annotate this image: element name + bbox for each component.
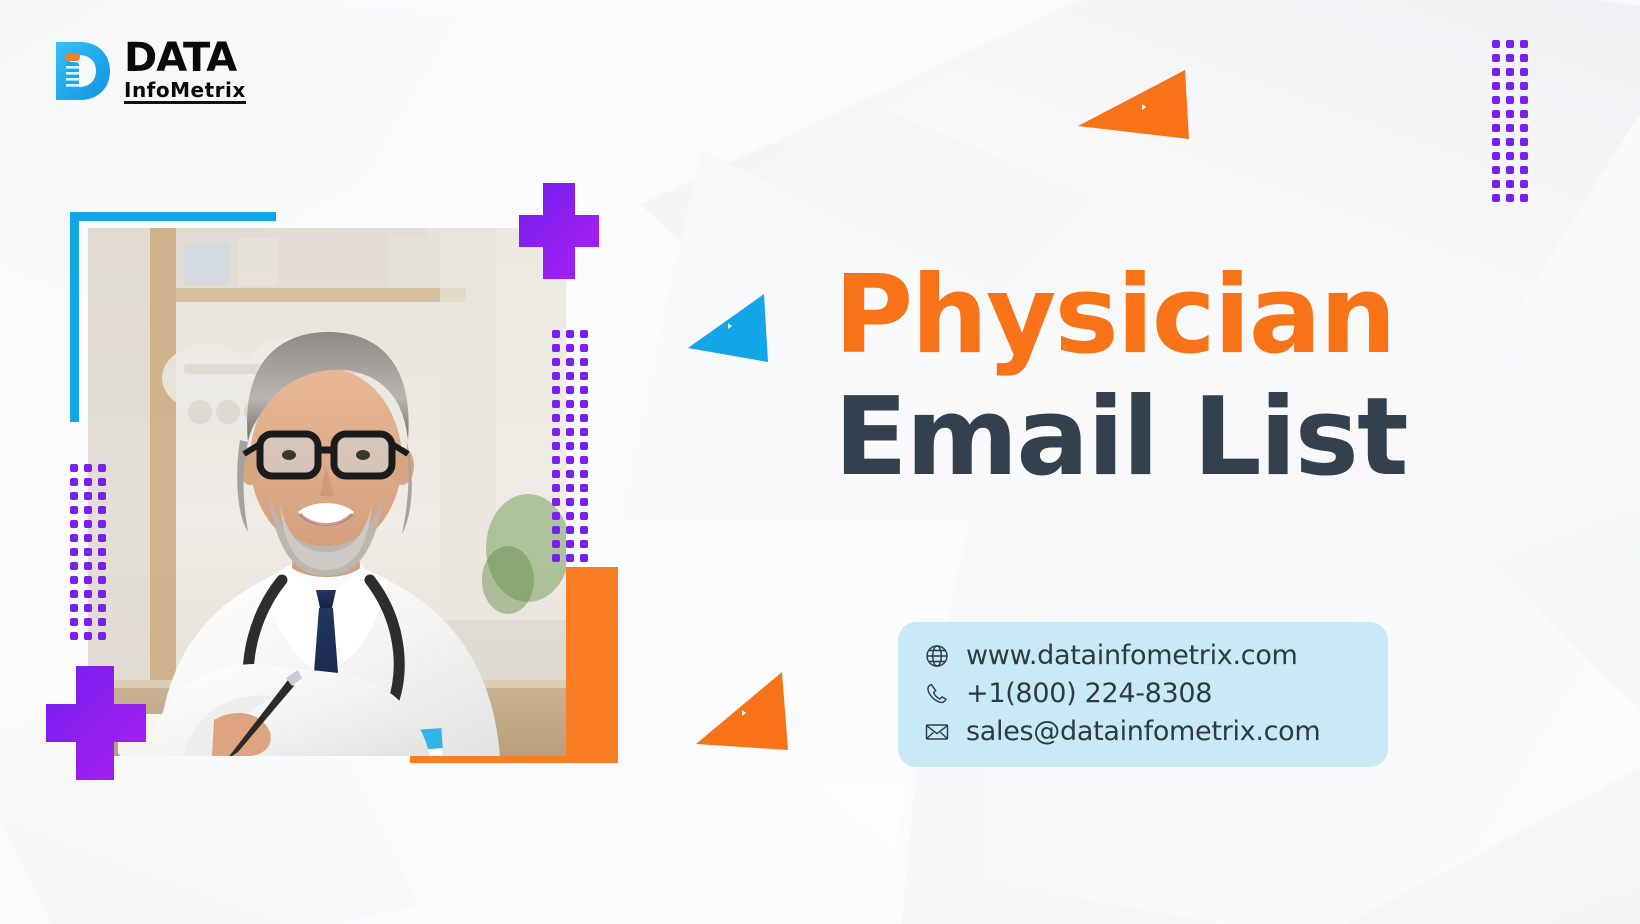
decor-dot xyxy=(552,470,560,478)
decor-dot xyxy=(566,498,574,506)
decor-dot xyxy=(1520,124,1528,132)
decor-dot xyxy=(70,618,78,626)
decor-dot xyxy=(1506,138,1514,146)
decor-dot xyxy=(566,386,574,394)
brand-logo[interactable]: DATA InfoMetrix xyxy=(52,38,246,104)
decor-dot xyxy=(1492,40,1500,48)
decor-dot xyxy=(552,344,560,352)
decor-dot xyxy=(552,386,560,394)
decor-dot xyxy=(1492,194,1500,202)
decor-dot xyxy=(84,506,92,514)
decor-dot xyxy=(580,442,588,450)
decor-dot xyxy=(70,520,78,528)
decor-dot xyxy=(566,540,574,548)
contact-phone-label: +1(800) 224-8308 xyxy=(966,678,1212,709)
decor-dot xyxy=(84,576,92,584)
decor-dot xyxy=(98,506,106,514)
decor-dot xyxy=(580,386,588,394)
decor-dot xyxy=(1520,110,1528,118)
decor-dot xyxy=(1492,138,1500,146)
physician-photo xyxy=(88,228,566,756)
decor-dot xyxy=(552,400,560,408)
decor-dot xyxy=(580,526,588,534)
decor-dot xyxy=(70,562,78,570)
decor-dot xyxy=(580,498,588,506)
decor-dot xyxy=(1506,40,1514,48)
decor-dot xyxy=(552,498,560,506)
decor-dot xyxy=(1520,82,1528,90)
decor-dot xyxy=(566,330,574,338)
headline-line-1: Physician xyxy=(834,262,1407,370)
decor-dot xyxy=(552,526,560,534)
decor-dot xyxy=(1506,96,1514,104)
decor-dot xyxy=(1506,166,1514,174)
orange-triangle-top xyxy=(1076,66,1191,158)
contact-phone[interactable]: +1(800) 224-8308 xyxy=(924,678,1362,709)
decor-dot xyxy=(580,484,588,492)
decor-dot xyxy=(84,632,92,640)
decor-dot xyxy=(566,512,574,520)
decor-dot xyxy=(70,464,78,472)
decor-dot xyxy=(580,428,588,436)
decor-dot xyxy=(1492,166,1500,174)
contact-card: www.datainfometrix.com +1(800) 224-8308 … xyxy=(898,622,1388,767)
decor-dot xyxy=(580,400,588,408)
decor-dot xyxy=(552,414,560,422)
decor-dot xyxy=(1506,180,1514,188)
decor-dot xyxy=(84,590,92,598)
decor-dot xyxy=(566,470,574,478)
decor-dot xyxy=(1506,110,1514,118)
orange-triangle-bottom xyxy=(692,668,792,758)
decor-dot xyxy=(1520,54,1528,62)
decor-dot xyxy=(552,554,560,562)
decor-dot xyxy=(84,562,92,570)
decor-dot xyxy=(552,428,560,436)
decor-dot xyxy=(1520,68,1528,76)
decor-dot xyxy=(1520,180,1528,188)
decor-dot xyxy=(552,540,560,548)
dot-grid-left xyxy=(70,464,106,640)
decor-dot xyxy=(84,520,92,528)
decor-dot xyxy=(1492,82,1500,90)
headline-line-2: Email List xyxy=(834,384,1407,492)
decor-dot xyxy=(566,554,574,562)
globe-icon xyxy=(924,643,950,669)
decor-dot xyxy=(566,400,574,408)
decor-dot xyxy=(84,492,92,500)
decor-dot xyxy=(98,618,106,626)
contact-email-label: sales@datainfometrix.com xyxy=(966,716,1320,747)
decor-dot xyxy=(580,330,588,338)
dot-grid-mid xyxy=(552,330,588,562)
decor-dot xyxy=(1492,54,1500,62)
decor-dot xyxy=(566,428,574,436)
decor-dot xyxy=(566,484,574,492)
phone-icon xyxy=(924,681,950,707)
decor-dot xyxy=(1506,68,1514,76)
decor-dot xyxy=(70,534,78,542)
envelope-icon xyxy=(924,719,950,745)
decor-dot xyxy=(98,464,106,472)
decor-dot xyxy=(566,526,574,534)
decor-dot xyxy=(70,478,78,486)
decor-dot xyxy=(552,484,560,492)
decor-dot xyxy=(1492,124,1500,132)
decor-dot xyxy=(70,576,78,584)
decor-dot xyxy=(1492,110,1500,118)
decor-dot xyxy=(552,442,560,450)
decor-dot xyxy=(566,372,574,380)
decor-dot xyxy=(84,478,92,486)
decor-dot xyxy=(98,492,106,500)
decor-dot xyxy=(552,456,560,464)
decor-dot xyxy=(566,358,574,366)
decor-dot xyxy=(566,442,574,450)
decor-dot xyxy=(1520,194,1528,202)
decor-dot xyxy=(70,604,78,612)
decor-dot xyxy=(84,548,92,556)
decor-dot xyxy=(70,506,78,514)
decor-dot xyxy=(1520,40,1528,48)
decor-dot xyxy=(98,478,106,486)
decor-dot xyxy=(84,534,92,542)
decor-dot xyxy=(98,604,106,612)
decor-dot xyxy=(1492,180,1500,188)
decor-dot xyxy=(552,372,560,380)
decor-dot xyxy=(98,548,106,556)
decor-dot xyxy=(580,512,588,520)
decor-dot xyxy=(98,562,106,570)
decor-dot xyxy=(580,540,588,548)
decor-dot xyxy=(1506,54,1514,62)
decor-dot xyxy=(1520,166,1528,174)
page-title: Physician Email List xyxy=(834,262,1407,492)
decor-dot xyxy=(84,464,92,472)
decor-dot xyxy=(70,492,78,500)
decor-dot xyxy=(580,358,588,366)
decor-dot xyxy=(580,470,588,478)
decor-dot xyxy=(580,344,588,352)
cyan-triangle-left xyxy=(684,288,770,366)
decor-dot xyxy=(580,414,588,422)
decor-dot xyxy=(98,534,106,542)
decor-dot xyxy=(552,330,560,338)
decor-dot xyxy=(580,372,588,380)
decor-dot xyxy=(84,604,92,612)
decor-dot xyxy=(1506,194,1514,202)
contact-website-label: www.datainfometrix.com xyxy=(966,640,1298,671)
decor-dot xyxy=(1506,82,1514,90)
decor-dot xyxy=(566,344,574,352)
contact-email[interactable]: sales@datainfometrix.com xyxy=(924,716,1362,747)
decor-dot xyxy=(98,576,106,584)
contact-website[interactable]: www.datainfometrix.com xyxy=(924,640,1362,671)
decor-dot xyxy=(70,548,78,556)
decor-dot xyxy=(1506,152,1514,160)
decor-dot xyxy=(580,554,588,562)
purple-cross-top xyxy=(519,215,599,247)
decor-dot xyxy=(70,590,78,598)
purple-cross-bottom xyxy=(46,704,146,742)
decor-dot xyxy=(98,520,106,528)
logo-name-secondary: InfoMetrix xyxy=(124,80,246,104)
decor-dot xyxy=(84,618,92,626)
decor-dot xyxy=(98,590,106,598)
marketing-banner: DATA InfoMetrix xyxy=(0,0,1640,924)
decor-dot xyxy=(1520,138,1528,146)
decor-dot xyxy=(566,414,574,422)
decor-dot xyxy=(552,512,560,520)
decor-dot xyxy=(1520,96,1528,104)
decor-dot xyxy=(1492,96,1500,104)
decor-dot xyxy=(1492,68,1500,76)
decor-dot xyxy=(1492,152,1500,160)
decor-dot xyxy=(1506,124,1514,132)
d-letter-logo-icon xyxy=(52,39,114,103)
decor-dot xyxy=(580,456,588,464)
decor-dot xyxy=(1520,152,1528,160)
decor-dot xyxy=(552,358,560,366)
decor-dot xyxy=(566,456,574,464)
decor-dot xyxy=(70,632,78,640)
decor-dot xyxy=(98,632,106,640)
dot-grid-right xyxy=(1492,40,1528,202)
logo-name-primary: DATA xyxy=(124,38,246,78)
